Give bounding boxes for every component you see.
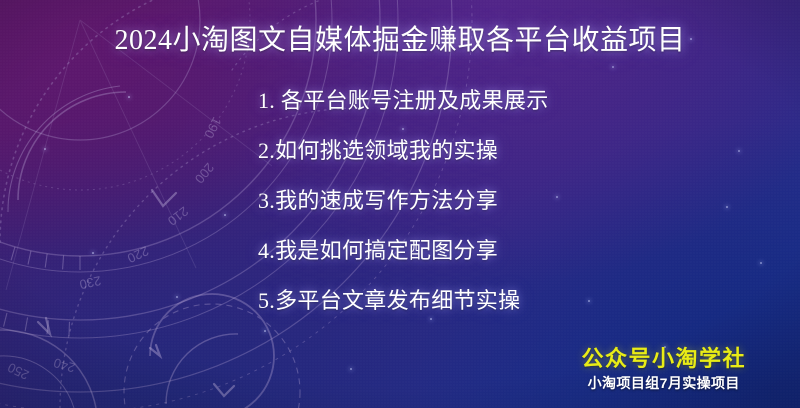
svg-text:250: 250 [5,360,31,383]
slide-canvas: 190 200 210 220 230 240 250 260 [0,0,800,408]
list-item: 5.多平台文章发布细节实操 [258,288,549,314]
list-item: 3.我的速成写作方法分享 [258,188,549,214]
list-item: 2.如何挑选领域我的实操 [258,138,549,164]
brand-name: 公众号小淘学社 [581,345,746,373]
agenda-list: 1. 各平台账号注册及成果展示 2.如何挑选领域我的实操 3.我的速成写作方法分… [258,88,549,314]
svg-text:230: 230 [78,273,102,292]
svg-text:200: 200 [192,160,217,186]
svg-text:240: 240 [52,355,77,375]
brand-block: 公众号小淘学社 小淘项目组7月实操项目 [581,345,746,392]
svg-text:220: 220 [125,243,151,266]
list-item: 4.我是如何搞定配图分享 [258,238,549,264]
brand-subtitle: 小淘项目组7月实操项目 [581,375,746,392]
page-title: 2024小淘图文自媒体掘金赚取各平台收益项目 [0,24,800,58]
svg-text:190: 190 [201,115,224,141]
list-item: 1. 各平台账号注册及成果展示 [258,88,549,114]
svg-text:210: 210 [165,204,191,229]
